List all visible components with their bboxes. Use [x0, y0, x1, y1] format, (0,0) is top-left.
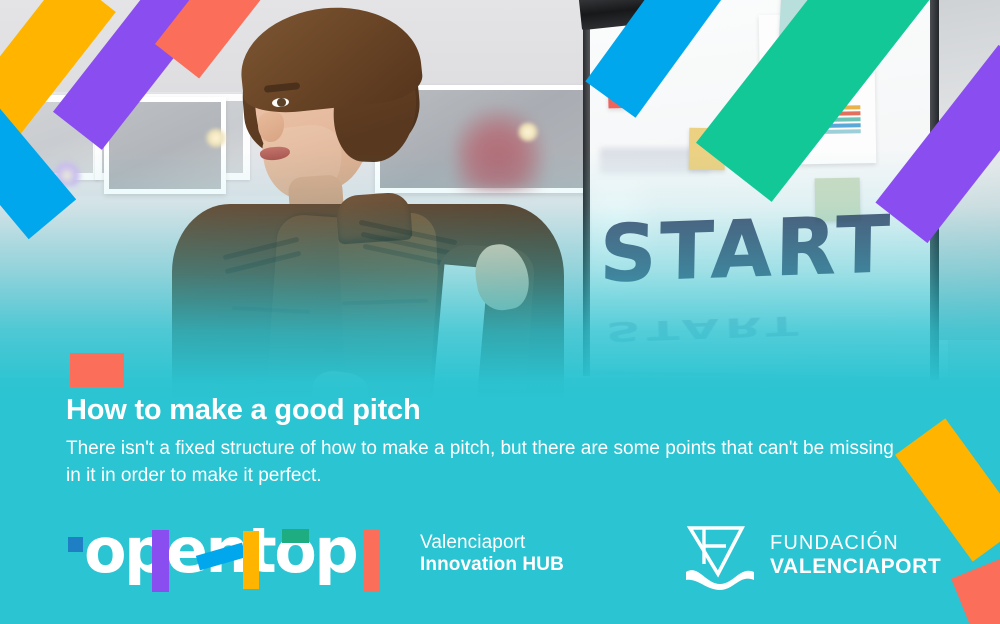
opentop-accent-green	[282, 529, 309, 543]
opentop-accent-coral	[364, 530, 380, 592]
logo-row: opentop Valenciaport Innovation HUB	[66, 524, 946, 596]
decor-square-coral-left	[70, 353, 124, 387]
fundacion-line-1: FUNDACIÓN	[770, 532, 941, 555]
iris	[277, 98, 287, 108]
fv-monogram-icon	[684, 522, 756, 590]
opentop-logo[interactable]: opentop	[66, 524, 406, 594]
page-title: How to make a good pitch	[66, 394, 926, 426]
fundacion-wordmark: FUNDACIÓN VALENCIAPORT	[770, 532, 941, 579]
fundacion-valenciaport-logo[interactable]: FUNDACIÓN VALENCIAPORT	[684, 520, 946, 594]
promo-banner: START START	[0, 0, 1000, 624]
tagline-line-2: Innovation HUB	[420, 554, 564, 576]
opentop-accent-purple	[152, 530, 169, 592]
opentop-accent-yellow	[243, 531, 259, 589]
opentop-blue-square-icon	[68, 537, 83, 552]
opentop-tagline: Valenciaport Innovation HUB	[420, 532, 564, 576]
presenter-figure	[212, 8, 592, 400]
page-subtitle: There isn't a fixed structure of how to …	[66, 436, 896, 488]
tagline-line-1: Valenciaport	[420, 532, 564, 554]
fundacion-line-2: VALENCIAPORT	[770, 555, 941, 579]
text-block: How to make a good pitch There isn't a f…	[66, 394, 926, 489]
whiteboard-start-text: START	[599, 200, 894, 300]
